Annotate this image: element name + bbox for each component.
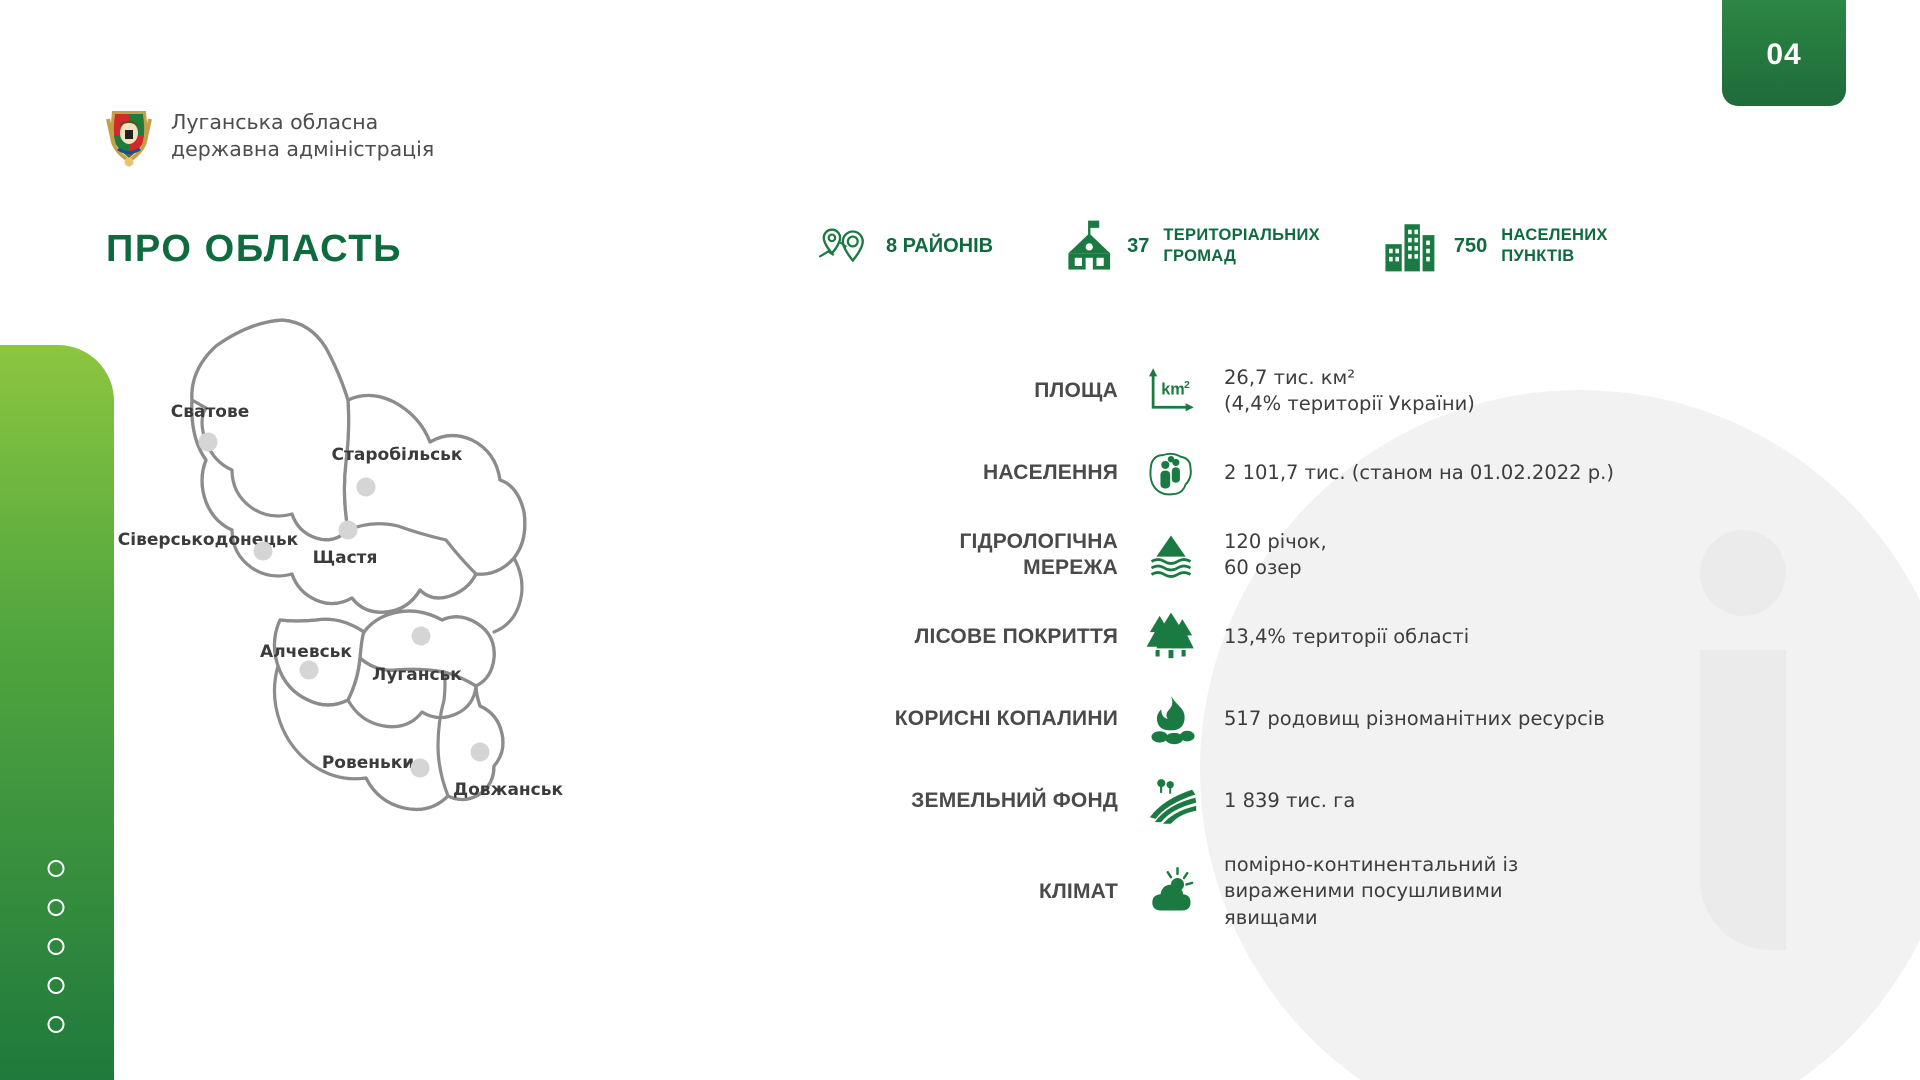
- map-city-dot: [199, 433, 218, 452]
- oblast-map-svg: [120, 290, 640, 920]
- top-stat-number: 750: [1454, 235, 1487, 258]
- sidebar-dot-3[interactable]: [48, 938, 65, 955]
- top-stat-text: 8 РАЙОНІВ: [886, 235, 993, 258]
- map-city-label: Ровеньки: [322, 753, 414, 773]
- community-building-icon: [1051, 215, 1113, 277]
- map-city-label: Довжанськ: [453, 780, 563, 800]
- oblast-map: СватовеСтаробільськСіверськодонецькЩастя…: [120, 290, 640, 920]
- sidebar-dot-1[interactable]: [48, 860, 65, 877]
- minerals-flame-icon: [1140, 693, 1202, 745]
- map-city-label: Луганськ: [372, 665, 462, 685]
- map-pins-icon: [810, 215, 872, 277]
- stat-row: ГІДРОЛОГІЧНА МЕРЕЖА120 річок, 60 озер: [800, 524, 1880, 586]
- stat-row: НАСЕЛЕННЯ 2 101,7 тис. (станом на 01.02.…: [800, 442, 1880, 504]
- svg-text:km: km: [1161, 380, 1185, 398]
- stat-label: ЗЕМЕЛЬНИЙ ФОНД: [800, 788, 1140, 814]
- slide-root: 04 Луганська обласна д: [0, 0, 1920, 1080]
- stat-row: ЛІСОВЕ ПОКРИТТЯ13,4% території області: [800, 606, 1880, 668]
- stats-list: ПЛОЩАkm226,7 тис. км² (4,4% території Ук…: [800, 360, 1880, 951]
- stat-label: ГІДРОЛОГІЧНА МЕРЕЖА: [800, 529, 1140, 580]
- stat-row: ЗЕМЕЛЬНИЙ ФОНД 1 839 тис. га: [800, 770, 1880, 832]
- stat-label: КОРИСНІ КОПАЛИНИ: [800, 706, 1140, 732]
- stat-value: помірно-континентальний із вираженими по…: [1202, 852, 1518, 931]
- page-number-badge: 04: [1722, 0, 1846, 106]
- map-city-label: Сватове: [171, 402, 250, 422]
- top-stat-label: ТЕРИТОРІАЛЬНИХ ГРОМАД: [1163, 225, 1320, 267]
- top-stats-row: 8 РАЙОНІВ37ТЕРИТОРІАЛЬНИХ ГРОМАД750НАСЕЛ…: [810, 215, 1608, 277]
- river-water-icon: [1140, 529, 1202, 581]
- stat-value: 2 101,7 тис. (станом на 01.02.2022 р.): [1202, 460, 1614, 486]
- map-city-dot: [300, 661, 319, 680]
- map-city-dot: [339, 521, 358, 540]
- city-buildings-icon: [1378, 215, 1440, 277]
- map-city-dot: [254, 542, 273, 561]
- map-city-label: Старобільськ: [332, 445, 463, 465]
- sidebar-dot-5[interactable]: [48, 1016, 65, 1033]
- map-city-dot: [412, 627, 431, 646]
- population-icon: [1140, 447, 1202, 499]
- stat-label: НАСЕЛЕННЯ: [800, 460, 1140, 486]
- top-stat-number: 37: [1127, 235, 1149, 258]
- stat-row: КОРИСНІ КОПАЛИНИ517 родовищ різноманітни…: [800, 688, 1880, 750]
- sidebar-dot-2[interactable]: [48, 899, 65, 916]
- map-city-label: Алчевськ: [260, 642, 352, 662]
- stat-value: 1 839 тис. га: [1202, 788, 1355, 814]
- sidebar-dots[interactable]: [48, 860, 65, 1033]
- forest-trees-icon: [1140, 611, 1202, 663]
- climate-sun-cloud-icon: [1140, 865, 1202, 917]
- stat-label: ПЛОЩА: [800, 378, 1140, 404]
- page-number: 04: [1766, 38, 1801, 72]
- stat-value: 13,4% території області: [1202, 624, 1469, 650]
- stat-value: 26,7 тис. км² (4,4% території України): [1202, 365, 1475, 418]
- stat-label: КЛІМАТ: [800, 879, 1140, 905]
- page-title: ПРО ОБЛАСТЬ: [106, 228, 402, 271]
- luhansk-oblast-coat-of-arms-icon: [104, 105, 154, 167]
- brand-line-2: державна адміністрація: [171, 136, 434, 163]
- stat-value: 517 родовищ різноманітних ресурсів: [1202, 706, 1605, 732]
- area-km2-icon: km2: [1140, 365, 1202, 417]
- top-stat-2: 37ТЕРИТОРІАЛЬНИХ ГРОМАД: [1051, 215, 1320, 277]
- top-stat-3: 750НАСЕЛЕНИХ ПУНКТІВ: [1378, 215, 1608, 277]
- farmland-field-icon: [1140, 775, 1202, 827]
- top-stat-1: 8 РАЙОНІВ: [810, 215, 993, 277]
- brand-header: Луганська обласна державна адміністрація: [104, 105, 434, 167]
- top-stat-label: НАСЕЛЕНИХ ПУНКТІВ: [1501, 225, 1607, 267]
- map-city-dot: [471, 743, 490, 762]
- map-city-dot: [411, 759, 430, 778]
- sidebar-dot-4[interactable]: [48, 977, 65, 994]
- map-city-label: Щастя: [313, 548, 378, 568]
- stat-row: КЛІМАТпомірно-континентальний із виражен…: [800, 852, 1880, 931]
- brand-line-1: Луганська обласна: [171, 109, 434, 136]
- stat-label: ЛІСОВЕ ПОКРИТТЯ: [800, 624, 1140, 650]
- brand-text: Луганська обласна державна адміністрація: [171, 109, 434, 164]
- map-city-dot: [357, 478, 376, 497]
- stat-row: ПЛОЩАkm226,7 тис. км² (4,4% території Ук…: [800, 360, 1880, 422]
- svg-text:2: 2: [1184, 379, 1190, 391]
- stat-value: 120 річок, 60 озер: [1202, 529, 1327, 582]
